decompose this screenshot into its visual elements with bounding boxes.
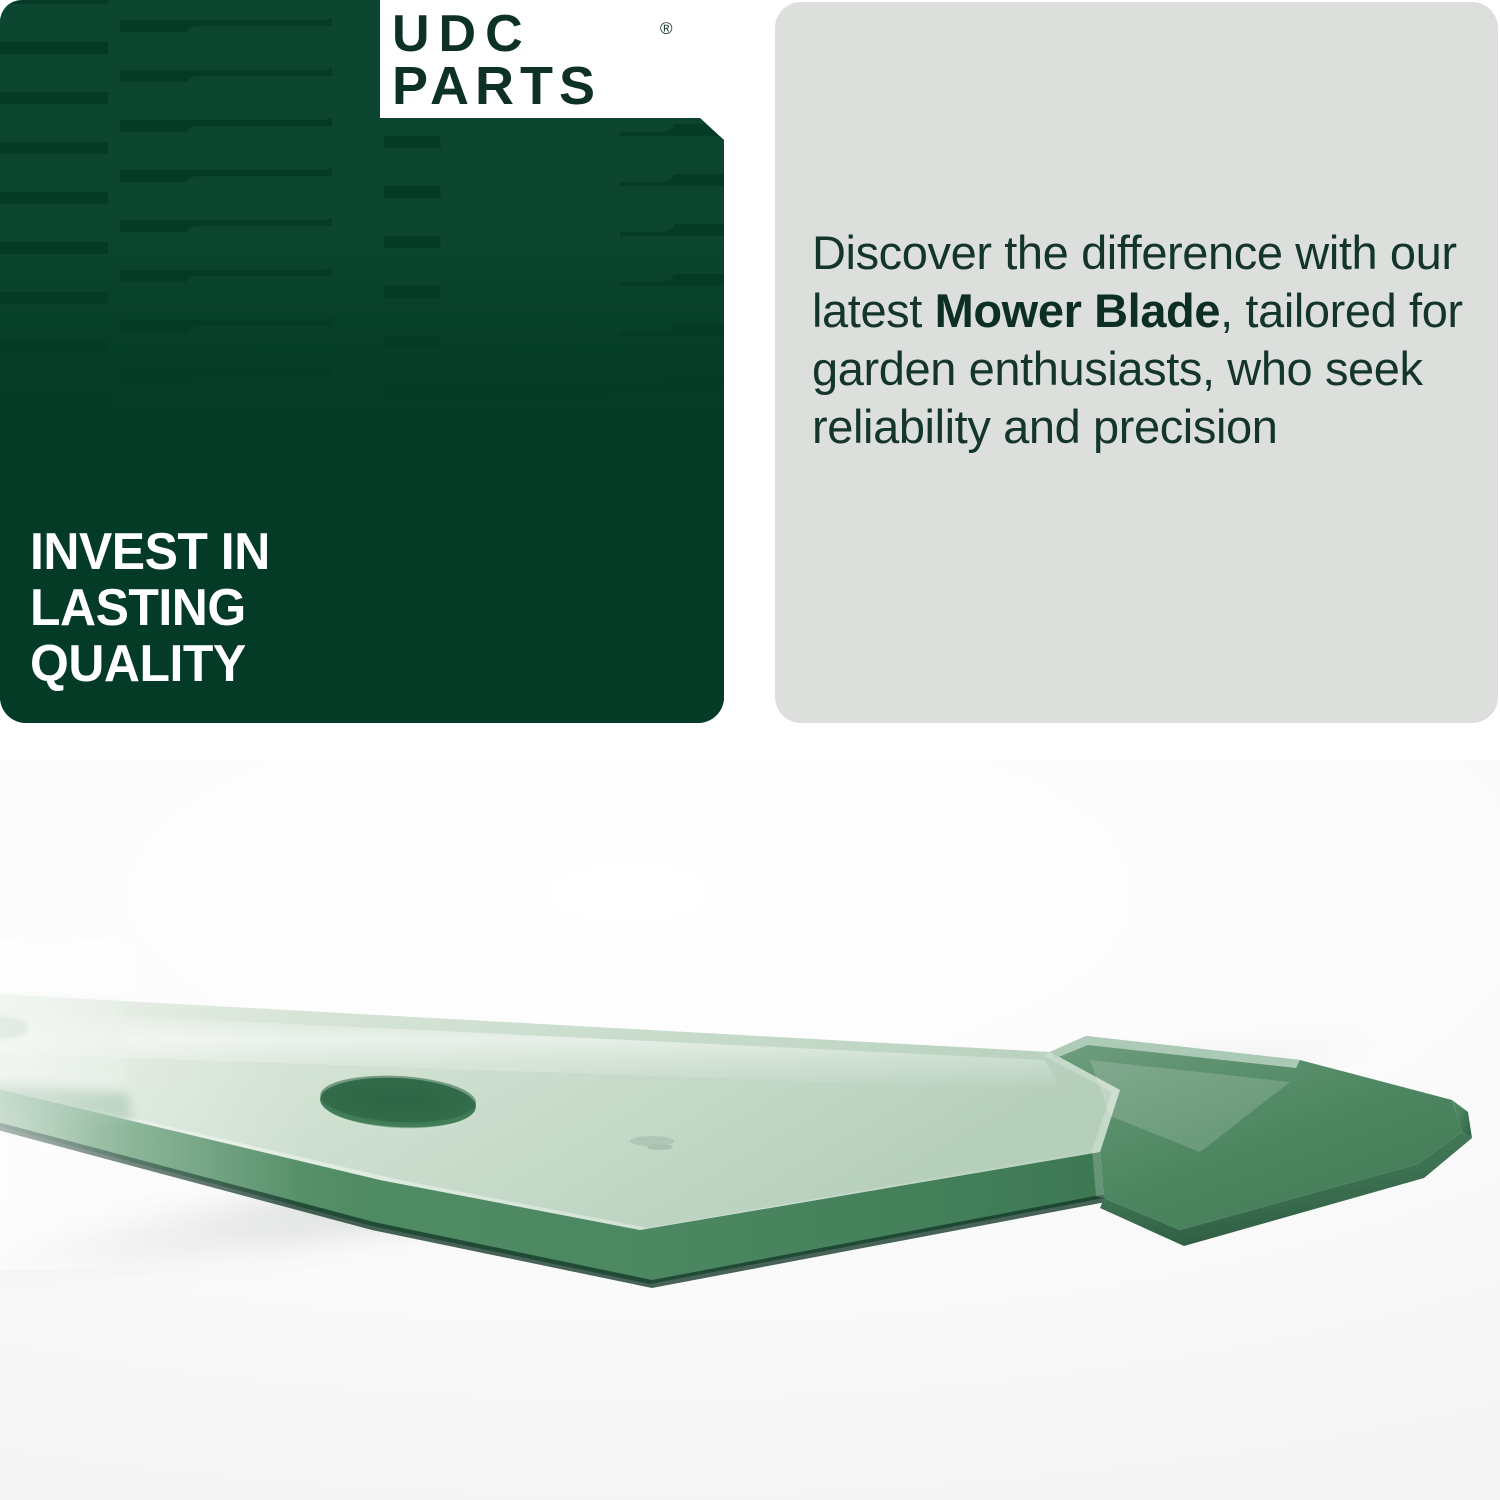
udc-parts-logo: UDC PARTS ®	[392, 8, 722, 116]
mower-blade-illustration	[0, 760, 1500, 1500]
pattern-capsule	[612, 236, 724, 274]
pattern-capsule	[0, 154, 120, 192]
blade-far-end-dof	[0, 992, 132, 1122]
page-headline: INVEST IN LASTING QUALITY	[30, 524, 644, 692]
product-marketing-image: INVEST IN LASTING QUALITY UDC PARTS ® Di…	[0, 0, 1500, 1500]
pattern-capsule	[108, 0, 338, 20]
headline-line-3: QUALITY	[30, 636, 644, 692]
pattern-capsule	[0, 304, 120, 342]
pattern-capsule	[0, 354, 120, 392]
description-text: Discover the difference with our latest …	[812, 224, 1472, 456]
headline-line-1: INVEST IN	[30, 524, 644, 580]
pattern-capsule	[612, 186, 724, 224]
pattern-capsule	[612, 136, 724, 174]
pattern-capsule	[0, 204, 120, 242]
pattern-capsule	[0, 4, 120, 42]
pattern-capsule	[0, 404, 120, 442]
description-emphasis: Mower Blade	[935, 284, 1221, 337]
pattern-capsule	[612, 286, 724, 324]
logo-line-parts: PARTS	[392, 60, 722, 112]
product-photo-section	[0, 760, 1500, 1500]
pattern-capsule	[0, 104, 120, 142]
description-panel: Discover the difference with our latest …	[775, 2, 1498, 723]
pattern-capsule	[0, 54, 120, 92]
registered-trademark-icon: ®	[660, 20, 673, 37]
top-banner-section: INVEST IN LASTING QUALITY UDC PARTS ® Di…	[0, 0, 1500, 760]
pattern-capsule	[612, 336, 724, 374]
headline-line-2: LASTING	[30, 580, 644, 636]
pattern-capsule	[360, 398, 590, 436]
pattern-capsule	[0, 254, 120, 292]
mower-blade-product-image	[0, 760, 1500, 1500]
pattern-capsule	[612, 386, 724, 424]
